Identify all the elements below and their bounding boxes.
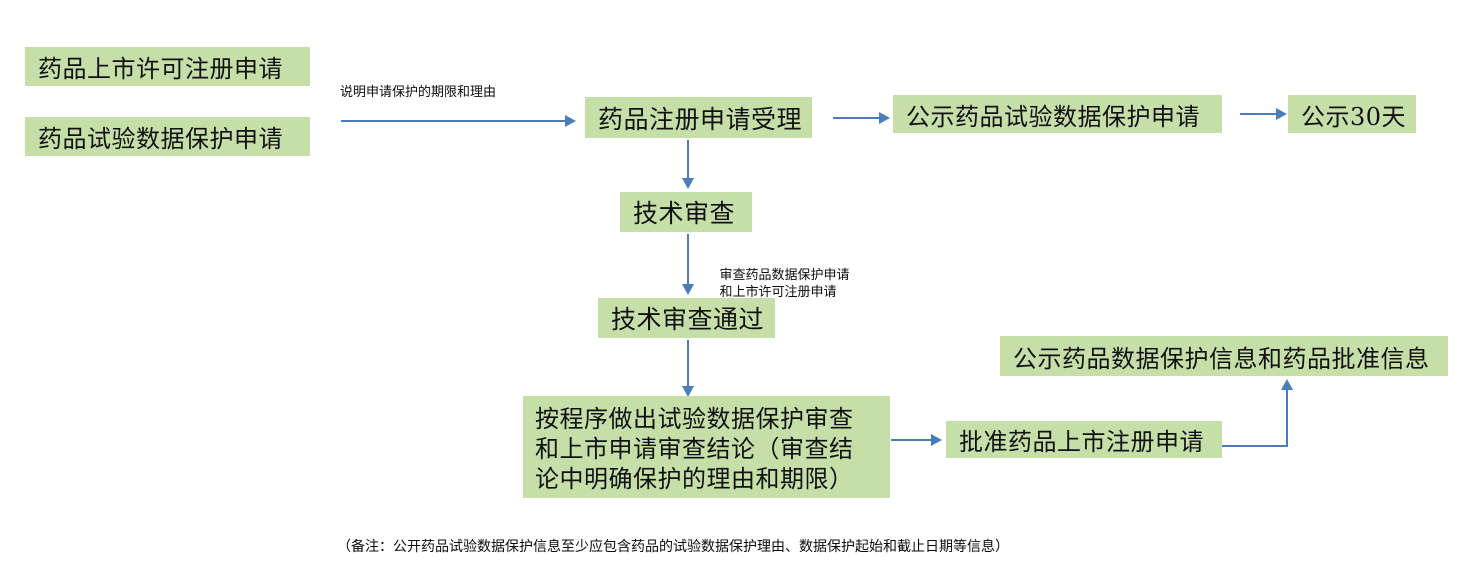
node-technical-review[interactable]: 技术审查 (620, 192, 752, 232)
node-registration-accepted[interactable]: 药品注册申请受理 (585, 97, 812, 138)
connector-left-to-accept-line (341, 120, 565, 122)
node-label: 药品上市许可注册申请 (38, 49, 283, 84)
connector-accept-to-review-arrowhead (682, 178, 694, 189)
connector-publicize-to-30days-line (1240, 113, 1276, 115)
node-label-line-1: 按程序做出试验数据保护审查 (535, 404, 890, 434)
node-label: 公示药品试验数据保护申请 (906, 97, 1200, 132)
node-label: 药品试验数据保护申请 (38, 119, 283, 154)
connector-conclusion-to-approval-arrowhead (931, 434, 942, 446)
edge-label-review-scope-line-1: 审查药品数据保护申请 (720, 268, 850, 283)
node-review-conclusion[interactable]: 按程序做出试验数据保护审查 和上市申请审查结论（审查结 论中明确保护的理由和期限… (523, 396, 890, 498)
edge-label-explain-term-and-reason: 说明申请保护的期限和理由 (340, 84, 496, 101)
node-label: 药品注册申请受理 (598, 100, 802, 136)
connector-review-to-passed-arrowhead (682, 284, 694, 295)
connector-accept-to-publicize-line (833, 117, 879, 119)
node-label: 公示药品数据保护信息和药品批准信息 (1013, 339, 1430, 374)
connector-left-to-accept-arrowhead (565, 115, 576, 127)
node-label: 公示30天 (1301, 97, 1406, 132)
connector-accept-to-review-line (687, 140, 689, 178)
connector-accept-to-publicize-arrowhead (879, 112, 890, 124)
connector-conclusion-to-approval-line (891, 439, 931, 441)
footnote-note: （备注：公开药品试验数据保护信息至少应包含药品的试验数据保护理由、数据保护起始和… (337, 536, 1009, 556)
node-publicize-protection-and-approval[interactable]: 公示药品数据保护信息和药品批准信息 (1000, 336, 1448, 376)
flowchart-canvas: 药品上市许可注册申请 药品试验数据保护申请 说明申请保护的期限和理由 药品注册申… (0, 0, 1466, 582)
node-publicize-30-days[interactable]: 公示30天 (1288, 95, 1416, 133)
node-label: 技术审查 (633, 194, 735, 230)
node-label-line-2: 和上市申请审查结论（审查结 (535, 434, 890, 464)
node-application-data-protection[interactable]: 药品试验数据保护申请 (25, 117, 310, 156)
node-approve-registration[interactable]: 批准药品上市注册申请 (946, 421, 1222, 458)
node-publicize-data-protection-application[interactable]: 公示药品试验数据保护申请 (893, 95, 1222, 133)
connector-approval-to-publicize-arrowhead (1281, 379, 1293, 390)
node-label: 技术审查通过 (611, 300, 764, 336)
connector-approval-to-publicize-horizontal (1222, 445, 1288, 447)
connector-approval-to-publicize-vertical (1286, 390, 1288, 446)
node-application-marketing[interactable]: 药品上市许可注册申请 (25, 47, 310, 86)
connector-publicize-to-30days-arrowhead (1276, 108, 1287, 120)
connector-review-to-passed-line (687, 234, 689, 284)
node-label: 批准药品上市注册申请 (959, 422, 1204, 457)
node-label-line-3: 论中明确保护的理由和期限） (535, 464, 890, 494)
connector-passed-to-conclusion-line (687, 340, 689, 386)
node-technical-review-passed[interactable]: 技术审查通过 (598, 298, 775, 338)
